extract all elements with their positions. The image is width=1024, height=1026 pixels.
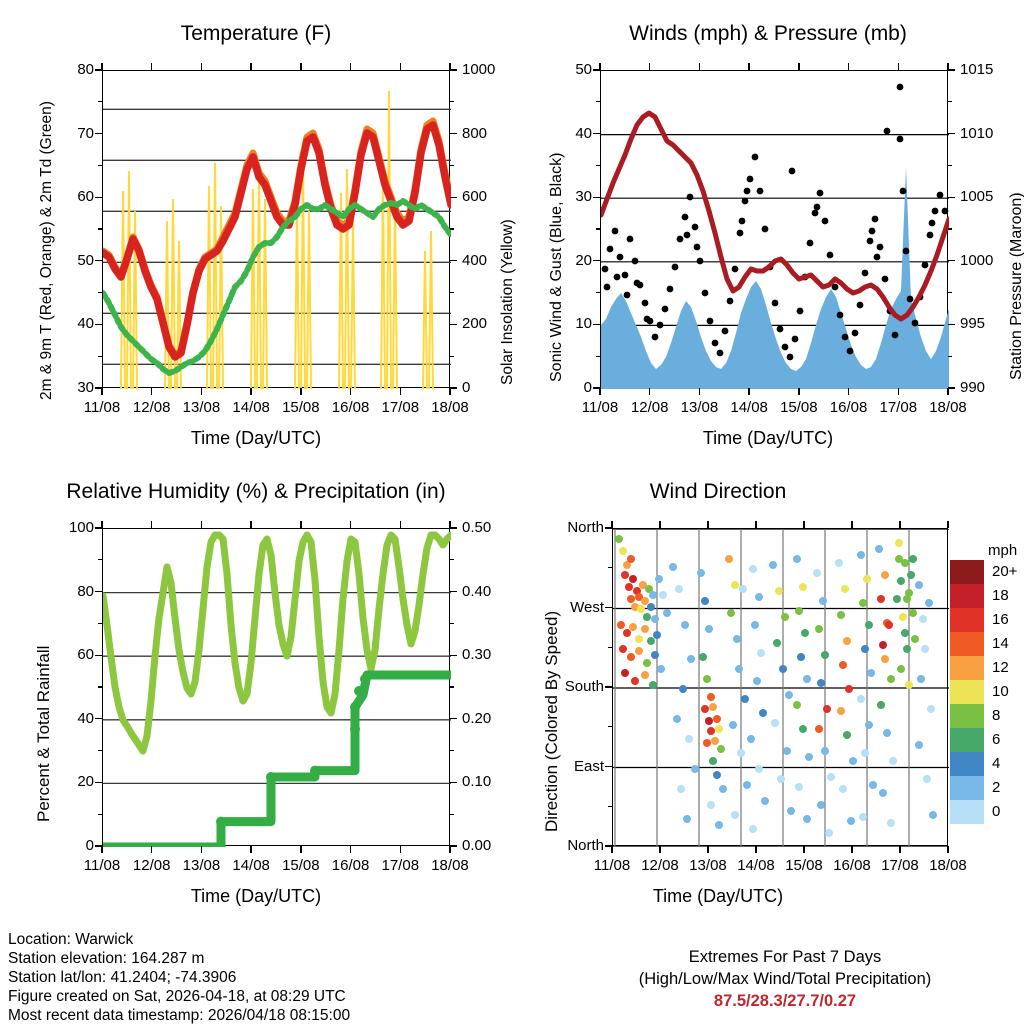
humidity-ytick-mark [450,591,457,592]
colorbar-tick-label: 10 [992,683,1009,700]
winddir-xtick-mark-top [947,521,948,528]
humidity-ytick-mark [95,591,102,592]
colorbar-tick-label: 4 [992,755,1000,772]
panel-winddir-plot-frame [612,528,948,846]
temperature-ytick: 60 [46,188,94,205]
humidity-xtick-mark [449,846,450,853]
winds-ytick-mark [593,324,600,325]
winddir-ytick-mark [605,686,612,687]
humidity-xtick-mark-top [350,521,351,528]
winds-xtick-mark [748,388,749,395]
panel-winds-plot [601,71,949,389]
winds-xtick-mark [699,388,700,395]
temperature-xtick-mark [350,388,351,395]
temperature-xtick-mark [201,388,202,395]
winds-xtick: 18/08 [922,399,974,416]
colorbar-tick-label: 8 [992,707,1000,724]
humidity-xtick-mark [300,846,301,853]
sonic-wind-area [601,167,949,389]
winds-ytick-mark [948,387,955,388]
humidity-xtick-mark-top [250,521,251,528]
winddir-xtick-mark [947,846,948,853]
winds-ytick: 990 [960,379,1012,396]
colorbar-tick-label: 2 [992,779,1000,796]
winddir-xtick-mark [899,846,900,853]
colorbar-tick-label: 20+ [992,563,1017,580]
temperature-ytick-mark [95,260,102,261]
panel-winds-xlabel: Time (Day/UTC) [512,428,1024,449]
winds-ytick-minor [596,165,600,166]
winds-xtick-mark-top [599,63,600,70]
humidity-xtick-mark-top [151,521,152,528]
winds-xtick-mark [798,388,799,395]
temperature-ytick-minor [98,292,102,293]
humidity-xtick: 15/08 [275,857,327,874]
winds-xtick-mark [599,388,600,395]
winddir-xtick-mark-top [707,521,708,528]
winddir-ytick: North [542,837,604,854]
temperature-ytick-minor [450,228,454,229]
humidity-xtick: 14/08 [225,857,277,874]
temperature-xtick: 16/08 [325,399,377,416]
winds-ytick: 1005 [960,188,1012,205]
winddir-xtick-mark-top [611,521,612,528]
winds-ytick-mark [593,197,600,198]
colorbar-swatches [950,560,984,824]
humidity-ytick-mark [95,718,102,719]
temperature-xtick-mark-top [151,63,152,70]
winddir-xtick-mark-top [803,521,804,528]
temperature-xtick-mark-top [300,63,301,70]
humidity-xtick: 11/08 [76,857,128,874]
panel-temperature-title: Temperature (F) [0,22,512,46]
winddir-xtick-mark [803,846,804,853]
humidity-ytick: 0.00 [462,837,514,854]
winddir-xtick-mark-top [899,521,900,528]
winddir-ytick-minor [608,567,612,568]
winds-xtick-mark-top [649,63,650,70]
humidity-xtick-mark-top [449,521,450,528]
winds-ytick-minor [948,228,952,229]
winds-xtick: 13/08 [673,399,725,416]
temperature-xtick-mark-top [449,63,450,70]
winddir-ytick-minor [608,806,612,807]
humidity-ytick: 80 [46,583,94,600]
winds-xtick: 16/08 [823,399,875,416]
winddir-xtick-mark-top [851,521,852,528]
winddir-ytick-mark [605,607,612,608]
winds-ytick-mark [593,260,600,261]
temperature-ytick: 70 [46,125,94,142]
panel-winds-title: Winds (mph) & Pressure (mb) [512,22,1024,46]
humidity-ytick-mark [450,718,457,719]
temperature-ytick: 50 [46,252,94,269]
colorbar-swatch[interactable] [950,656,984,680]
colorbar-unit-label: mph [988,542,1017,559]
colorbar-swatch[interactable] [950,632,984,656]
humidity-ytick: 60 [46,646,94,663]
temperature-ytick-mark [450,133,457,134]
extremes-title: Extremes For Past 7 Days [550,946,1020,968]
winddir-xtick: 11/08 [586,857,638,874]
footer-elevation: Station elevation: 164.287 m [8,949,204,969]
winddir-xtick-mark [851,846,852,853]
humidity-ytick: 0.10 [462,773,514,790]
panel-winds-plot-frame [600,70,948,388]
panel-winds-ylabel-right: Station Pressure (Maroon) [1008,192,1024,380]
temperature-xtick: 18/08 [424,399,476,416]
panel-humidity: Relative Humidity (%) & Precipitation (i… [0,460,512,920]
temperature-ytick-mark [450,197,457,198]
temperature-xtick-mark-top [350,63,351,70]
temperature-ytick: 80 [46,61,94,78]
temperature-xtick-mark [151,388,152,395]
humidity-ytick-minor [98,814,102,815]
footer-location: Location: Warwick [8,930,133,950]
winddir-xtick: 16/08 [826,857,878,874]
temperature-ytick: 1000 [462,61,514,78]
winds-ytick-mark [948,260,955,261]
humidity-ytick-mark [450,527,457,528]
temperature-xtick: 14/08 [225,399,277,416]
winddir-xtick: 17/08 [874,857,926,874]
temperature-xtick: 15/08 [275,399,327,416]
panel-temperature-plot-frame [102,70,450,388]
winddir-ytick: South [542,678,604,695]
panel-temperature: Temperature (F) 2m & 9m T (Red, Orange) … [0,0,512,460]
humidity-ytick-mark [95,655,102,656]
panel-temperature-xlabel: Time (Day/UTC) [0,428,512,449]
winds-ytick-mark [948,197,955,198]
temperature-ytick-minor [98,228,102,229]
humidity-ytick-minor [450,559,454,560]
panel-winds: Winds (mph) & Pressure (mb) Sonic Wind &… [512,0,1024,460]
panel-winddir-plot [613,529,949,847]
temperature-ytick: 30 [46,379,94,396]
wind-speed-colorbar: mph 20+181614121086420 [950,560,1024,860]
winds-ytick-mark [948,133,955,134]
winddir-ytick: North [542,519,604,536]
winddir-xtick-mark [755,846,756,853]
panel-temperature-plot [103,71,451,389]
winds-xtick-mark [898,388,899,395]
total-rainfall-trace [103,675,451,847]
humidity-xtick: 17/08 [374,857,426,874]
winds-xtick: 14/08 [723,399,775,416]
humidity-xtick-mark-top [300,521,301,528]
winds-ytick-minor [596,228,600,229]
winddir-xtick-mark-top [755,521,756,528]
winds-ytick-mark [593,133,600,134]
winddir-xtick-mark [659,846,660,853]
winds-xtick-mark [947,388,948,395]
winddir-ytick: West [542,599,604,616]
footer-recent-timestamp: Most recent data timestamp: 2026/04/18 0… [8,1006,350,1026]
temperature-ytick: 400 [462,252,514,269]
winds-ytick: 20 [544,252,592,269]
temperature-ytick-minor [450,101,454,102]
temperature-xtick: 13/08 [175,399,227,416]
colorbar-swatch[interactable] [950,752,984,776]
extremes-values: 87.5/28.3/27.7/0.27 [550,990,1020,1012]
winddir-xtick: 14/08 [730,857,782,874]
winds-ytick: 995 [960,315,1012,332]
temperature-ytick-minor [98,165,102,166]
colorbar-swatch[interactable] [950,800,984,824]
temperature-xtick-mark-top [101,63,102,70]
colorbar-swatch[interactable] [950,608,984,632]
winds-xtick-mark-top [848,63,849,70]
temperature-xtick-mark-top [250,63,251,70]
winds-ytick-mark [948,69,955,70]
winddir-ytick: East [542,758,604,775]
footer-latlon: Station lat/lon: 41.2404; -74.3906 [8,968,236,988]
winds-xtick-mark-top [699,63,700,70]
humidity-ytick: 100 [46,519,94,536]
humidity-xtick: 18/08 [424,857,476,874]
footer-figure-created: Figure created on Sat, 2026-04-18, at 08… [8,987,346,1007]
colorbar-tick-label: 12 [992,659,1009,676]
winddir-ytick-mark [605,766,612,767]
panel-humidity-title: Relative Humidity (%) & Precipitation (i… [0,480,512,504]
colorbar-swatch[interactable] [950,560,984,584]
humidity-xtick-mark-top [101,521,102,528]
winds-ytick: 1015 [960,61,1012,78]
temperature-xtick-mark [449,388,450,395]
humidity-ytick: 0.40 [462,583,514,600]
temperature-ytick: 0 [462,379,514,396]
winddir-xtick-mark-top [659,521,660,528]
humidity-ytick-minor [450,623,454,624]
panel-humidity-plot-frame [102,528,450,846]
temperature-ytick-mark [450,69,457,70]
colorbar-tick-label: 16 [992,611,1009,628]
temperature-xtick-mark-top [201,63,202,70]
temperature-ytick-mark [95,197,102,198]
winds-ytick-minor [948,292,952,293]
winds-xtick-mark [649,388,650,395]
colorbar-tick-label: 18 [992,587,1009,604]
humidity-ytick: 0 [46,837,94,854]
humidity-xtick-mark [350,846,351,853]
temperature-ytick-mark [450,260,457,261]
temperature-xtick: 12/08 [126,399,178,416]
colorbar-tick-label: 14 [992,635,1009,652]
winds-ytick-minor [596,356,600,357]
humidity-xtick-mark-top [201,521,202,528]
temperature-xtick: 11/08 [76,399,128,416]
winddir-xtick-mark [611,846,612,853]
humidity-ytick-minor [450,814,454,815]
winddir-xtick: 15/08 [778,857,830,874]
humidity-ytick-minor [98,559,102,560]
winds-ytick: 50 [544,61,592,78]
humidity-xtick-mark [250,846,251,853]
panel-winddir-title: Wind Direction [462,480,974,504]
humidity-ytick-mark [95,782,102,783]
colorbar-swatch[interactable] [950,680,984,704]
winddir-xtick: 13/08 [682,857,734,874]
humidity-ytick-minor [98,623,102,624]
temperature-ytick-mark [450,324,457,325]
panel-winddir: Wind Direction Direction (Colored By Spe… [512,460,1024,920]
colorbar-swatch[interactable] [950,728,984,752]
humidity-ytick-minor [450,750,454,751]
winddir-ytick-minor [608,726,612,727]
winds-xtick: 12/08 [624,399,676,416]
winddir-ytick-minor [608,647,612,648]
colorbar-tick-label: 0 [992,803,1000,820]
winds-ytick: 40 [544,125,592,142]
humidity-xtick-mark [400,846,401,853]
temperature-xtick: 17/08 [374,399,426,416]
temperature-xtick-mark [250,388,251,395]
temperature-ytick-minor [98,356,102,357]
humidity-xtick-mark [151,846,152,853]
humidity-ytick: 0.50 [462,519,514,536]
winds-xtick-mark-top [947,63,948,70]
humidity-ytick-mark [450,782,457,783]
winds-xtick: 11/08 [574,399,626,416]
colorbar-swatch[interactable] [950,584,984,608]
humidity-ytick: 40 [46,710,94,727]
panel-temperature-ylabel-left: 2m & 9m T (Red, Orange) & 2m Td (Green) [38,101,56,400]
colorbar-tick-label: 6 [992,731,1000,748]
panel-humidity-xlabel: Time (Day/UTC) [0,886,512,907]
temperature-xtick-mark [400,388,401,395]
colorbar-swatch[interactable] [950,776,984,800]
humidity-ytick-minor [98,750,102,751]
winds-ytick-minor [948,356,952,357]
humidity-xtick-mark-top [400,521,401,528]
panel-humidity-ylabel-left: Percent & Total Rainfall [34,646,54,822]
station-pressure-trace [601,113,949,319]
temperature-ytick-mark [95,133,102,134]
temperature-ytick-mark [95,324,102,325]
panel-winddir-xlabel: Time (Day/UTC) [462,886,974,907]
temperature-ytick: 800 [462,125,514,142]
panel-winddir-ylabel-left: Direction (Colored By Speed) [542,611,562,832]
winds-xtick: 17/08 [872,399,924,416]
humidity-xtick: 13/08 [175,857,227,874]
temperature-ytick-minor [450,165,454,166]
humidity-ytick: 0.20 [462,710,514,727]
winddir-xtick: 12/08 [634,857,686,874]
temperature-ytick: 200 [462,315,514,332]
winds-ytick-minor [948,165,952,166]
winds-ytick-mark [948,324,955,325]
relative-humidity-trace [103,535,451,751]
temperature-xtick-mark-top [400,63,401,70]
temperature-xtick-mark [300,388,301,395]
winddir-scatter [615,535,937,837]
winds-xtick-mark-top [898,63,899,70]
winddir-xtick-mark [707,846,708,853]
temperature-ytick-mark [450,387,457,388]
winds-xtick-mark-top [748,63,749,70]
humidity-xtick-mark [101,846,102,853]
panel-humidity-plot [103,529,451,847]
temperature-ytick: 40 [46,315,94,332]
temperature-ytick: 600 [462,188,514,205]
temperature-ytick-minor [450,292,454,293]
winds-xtick: 15/08 [773,399,825,416]
humidity-ytick-minor [98,686,102,687]
temperature-ytick-minor [450,356,454,357]
humidity-xtick: 16/08 [325,857,377,874]
temperature-ytick-minor [98,101,102,102]
humidity-ytick: 20 [46,773,94,790]
colorbar-swatch[interactable] [950,704,984,728]
winds-ytick: 0 [544,379,592,396]
humidity-ytick-mark [450,845,457,846]
temperature-xtick-mark [101,388,102,395]
winds-ytick: 10 [544,315,592,332]
humidity-ytick: 0.30 [462,646,514,663]
winds-xtick-mark [848,388,849,395]
humidity-xtick: 12/08 [126,857,178,874]
winds-ytick: 1010 [960,125,1012,142]
winds-ytick-minor [948,101,952,102]
winds-ytick-minor [596,292,600,293]
extremes-subtitle: (High/Low/Max Wind/Total Precipitation) [550,968,1020,990]
humidity-ytick-mark [450,655,457,656]
winds-ytick-minor [596,101,600,102]
winds-ytick: 30 [544,188,592,205]
winds-ytick: 1000 [960,252,1012,269]
winds-xtick-mark-top [798,63,799,70]
humidity-xtick-mark [201,846,202,853]
humidity-ytick-minor [450,686,454,687]
